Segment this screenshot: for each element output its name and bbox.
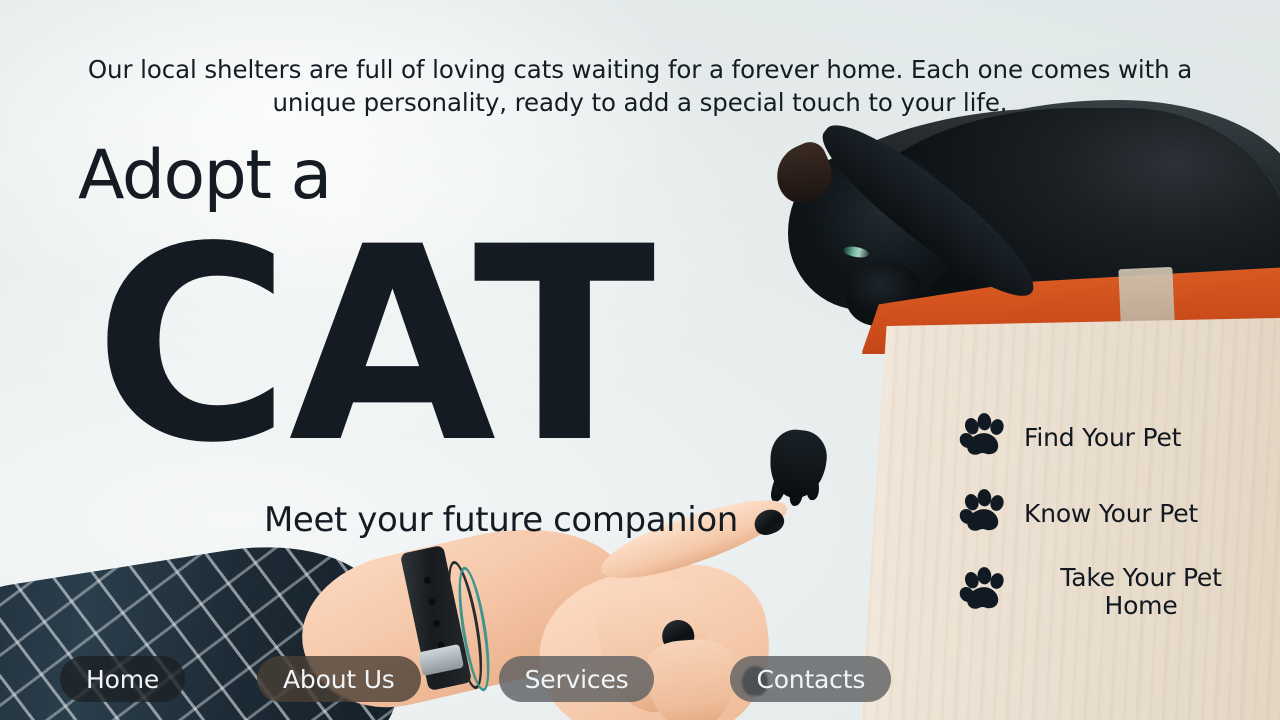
feature-find-your-pet[interactable]: Find Your Pet (958, 412, 1258, 464)
hero-page: Our local shelters are full of loving ca… (0, 0, 1280, 720)
nav-item-contacts[interactable]: Contacts (730, 656, 891, 702)
hero-kicker: Adopt a (78, 142, 331, 210)
feature-take-your-pet-home[interactable]: Take Your Pet Home (958, 564, 1258, 620)
hero-content: Our local shelters are full of loving ca… (0, 0, 1280, 720)
feature-label: Take Your Pet Home (1024, 564, 1258, 620)
hero-headline: CAT (94, 212, 654, 480)
feature-label: Find Your Pet (1024, 424, 1181, 452)
paw-icon (958, 412, 1010, 464)
cat-paw-overlap (767, 427, 830, 500)
feature-know-your-pet[interactable]: Know Your Pet (958, 488, 1258, 540)
nav-item-services[interactable]: Services (499, 656, 655, 702)
feature-label: Know Your Pet (1024, 500, 1198, 528)
nav-item-home[interactable]: Home (60, 656, 185, 702)
nav-item-about-us[interactable]: About Us (257, 656, 421, 702)
feature-list: Find Your Pet Know Your Pet (958, 412, 1258, 620)
paw-icon (958, 566, 1010, 618)
paw-icon (958, 488, 1010, 540)
hero-tagline: Meet your future companion (264, 502, 738, 539)
main-navigation: Home About Us Services Contacts (60, 656, 891, 702)
